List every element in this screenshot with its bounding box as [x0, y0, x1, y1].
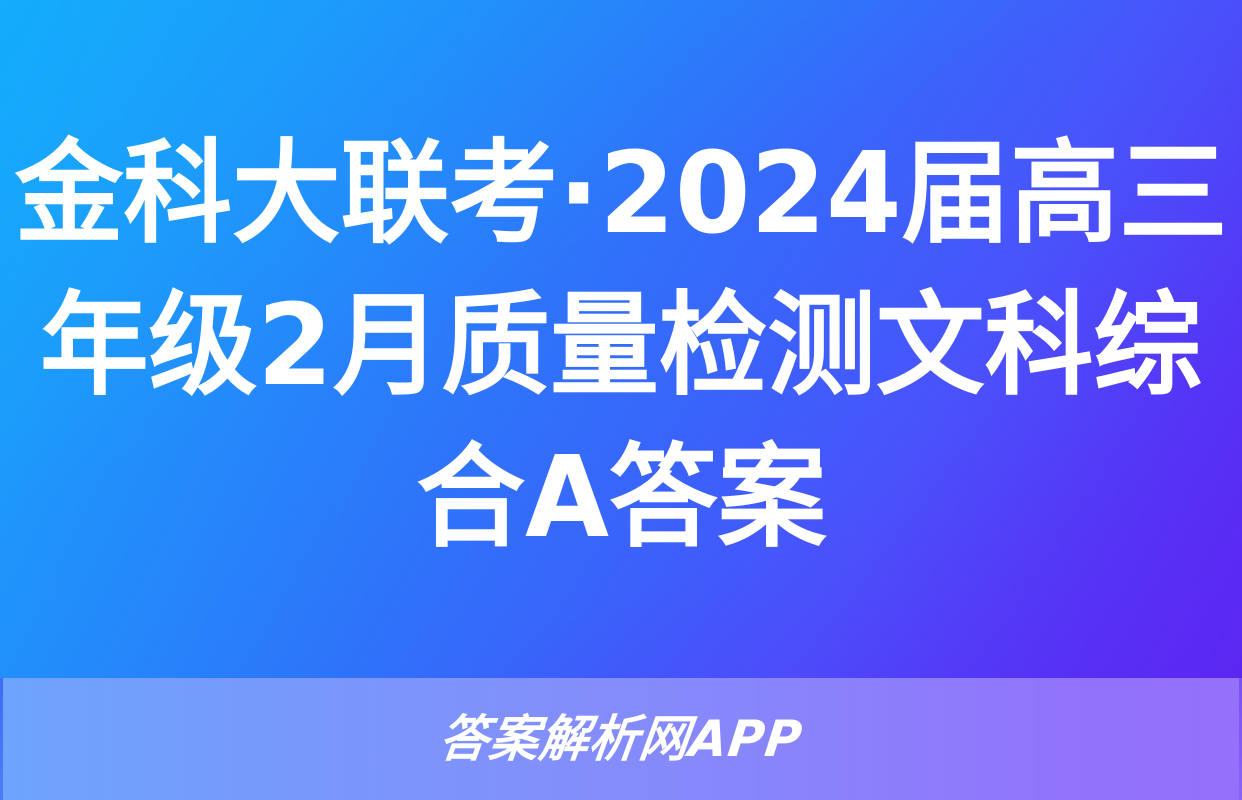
poster-title-block: 金科大联考·2024届高三 年级2月质量检测文科综 合A答案: [0, 0, 1242, 678]
poster-page: 金科大联考·2024届高三 年级2月质量检测文科综 合A答案 答案解析网APP: [0, 0, 1242, 800]
footer-left-edge-strip: [0, 678, 3, 800]
title-line-3: 合A答案: [416, 422, 826, 574]
footer-brand-band: 答案解析网APP: [0, 678, 1242, 800]
title-line-2: 年级2月质量检测文科综: [40, 270, 1202, 422]
title-line-1: 金科大联考·2024届高三: [15, 118, 1228, 270]
footer-brand-text: 答案解析网APP: [436, 711, 805, 767]
